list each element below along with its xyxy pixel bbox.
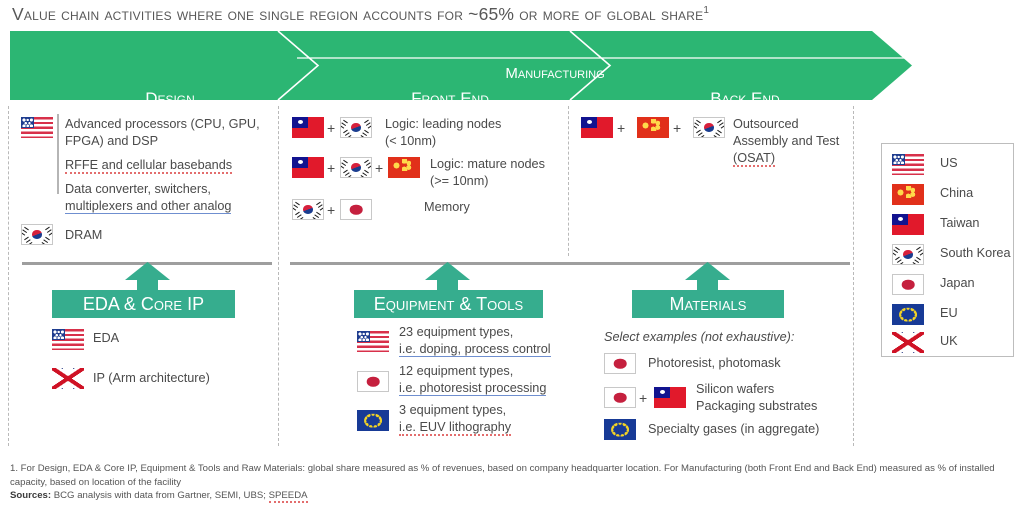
legend-item-eu-label: EU [940,306,958,320]
design-item-dram: DRAM [65,227,102,244]
page-title-superscript: 1 [703,5,709,16]
legend-item-taiwan-label: Taiwan [940,216,980,230]
equipment-item-jp-line1: 12 equipment types, [399,364,513,378]
flag-uk-icon [52,368,84,389]
eda-item-ip: IP (Arm architecture) [93,370,210,387]
rule-manufacturing [290,262,850,265]
flag-eu-icon [604,419,636,440]
backend-item-osat-line2: Assembly and Test [733,134,839,148]
frontend-item-mature-nodes-line1: Logic: mature nodes [430,157,545,171]
section-title-materials: Materials [632,290,784,318]
legend-item-uk: UK [892,332,1012,354]
design-item-dataconverter-line2: multiplexers and other analog [65,199,231,214]
legend-item-japan: Japan [892,274,1012,296]
eda-item-eda: EDA [93,330,119,347]
flag-kr-icon [693,117,725,138]
plus-sign: + [327,202,335,218]
design-item-dataconverter: Data converter, switchers, multiplexers … [65,181,280,215]
footnote-sources-label: Sources: [10,490,51,501]
equipment-item-jp-line2: i.e. photoresist processing [399,381,546,396]
page-title: Value chain activities where one single … [12,4,709,25]
divider-left-edge [8,106,9,446]
materials-item-photoresist: Photoresist, photomask [648,355,781,372]
legend-item-south-korea-label: South Korea [940,246,1011,260]
flag-eu-icon [357,410,389,431]
flag-tw-icon [581,117,613,138]
backend-item-osat-line1: Outsourced [733,117,799,131]
flag-uk-icon [892,332,924,353]
footnote-sources-text: BCG analysis with data from Gartner, SEM… [54,490,266,501]
plus-sign: + [673,120,681,136]
plus-sign: + [639,390,647,406]
frontend-item-memory: Memory [424,199,470,216]
design-item-processors: Advanced processors (CPU, GPU, FPGA) and… [65,116,280,150]
flag-cn-icon [892,184,924,205]
flag-kr-icon [340,117,372,138]
materials-item-wafers-line2: Packaging substrates [696,399,817,413]
value-chain-banner: Manufacturing Design Front End Wafer fab… [10,31,912,100]
flag-eu-icon [892,304,924,325]
footnote: 1. For Design, EDA & Core IP, Equipment … [10,462,1015,503]
flag-kr-icon [340,157,372,178]
equipment-item-eu-line2: i.e. EUV lithography [399,420,511,436]
flag-tw-icon [292,117,324,138]
equipment-item-eu: 3 equipment types, i.e. EUV lithography [399,402,579,436]
legend-item-uk-label: UK [940,334,958,348]
legend-item-eu: EU [892,304,1012,326]
equipment-item-us: 23 equipment types, i.e. doping, process… [399,324,579,358]
materials-item-wafers-line1: Silicon wafers [696,382,774,396]
flag-jp-icon [340,199,372,220]
section-title-equipment: Equipment & Tools [354,290,543,318]
section-title-eda: EDA & Core IP [52,290,235,318]
design-item-rffe: RFFE and cellular basebands [65,157,280,174]
page-title-text: Value chain activities where one single … [12,4,703,24]
footnote-sources-speeda: SPEEDA [269,490,308,503]
banner-stage-design-label: Design [145,89,195,108]
flag-jp-icon [604,387,636,408]
plus-sign: + [327,160,335,176]
design-item-processors-line2: FPGA) and DSP [65,134,158,148]
flag-jp-icon [357,371,389,392]
flag-kr-icon [292,199,324,220]
design-group-bracket [57,114,59,194]
flag-jp-icon [892,274,924,295]
plus-sign: + [327,120,335,136]
flag-cn-icon [637,117,669,138]
equipment-item-jp: 12 equipment types, i.e. photoresist pro… [399,363,579,397]
frontend-item-mature-nodes: Logic: mature nodes (>= 10nm) [430,156,610,190]
flag-tw-icon [292,157,324,178]
materials-note: Select examples (not exhaustive): [604,329,794,346]
plus-sign: + [375,160,383,176]
frontend-item-leading-nodes-line1: Logic: leading nodes [385,117,501,131]
banner-stage-design: Design [70,89,270,108]
design-item-processors-line1: Advanced processors (CPU, GPU, [65,117,260,131]
legend-item-taiwan: Taiwan [892,214,1012,236]
legend-item-china-label: China [940,186,973,200]
materials-item-gases: Specialty gases (in aggregate) [648,421,819,438]
flag-kr-icon [21,224,53,245]
frontend-item-mature-nodes-line2: (>= 10nm) [430,174,489,188]
flag-tw-icon [892,214,924,235]
flag-cn-icon [388,157,420,178]
equipment-item-eu-line1: 3 equipment types, [399,403,506,417]
materials-item-wafers: Silicon wafers Packaging substrates [696,381,866,415]
backend-item-osat: Outsourced Assembly and Test (OSAT) [733,116,863,166]
slide-root: Value chain activities where one single … [0,0,1024,505]
legend-item-south-korea: South Korea [892,244,1012,266]
flag-us-icon [52,329,84,350]
flag-tw-icon [654,387,686,408]
design-item-dataconverter-line1: Data converter, switchers, [65,182,211,196]
frontend-item-leading-nodes: Logic: leading nodes (< 10nm) [385,116,565,150]
banner-stage-back-end-label: Back End [710,89,779,108]
banner-manufacturing-label: Manufacturing [440,66,670,83]
equipment-item-us-line1: 23 equipment types, [399,325,513,339]
banner-stage-front-end-label: Front End [411,89,489,108]
plus-sign: + [617,120,625,136]
flag-us-icon [21,117,53,138]
flag-us-icon [357,331,389,352]
backend-item-osat-line3: (OSAT) [733,151,775,167]
flag-us-icon [892,154,924,175]
legend-item-us: US [892,154,1012,176]
legend-item-china: China [892,184,1012,206]
flag-kr-icon [892,244,924,265]
legend-item-japan-label: Japan [940,276,975,290]
legend-item-us-label: US [940,156,958,170]
footnote-line1: 1. For Design, EDA & Core IP, Equipment … [10,463,811,474]
legend-box: US China Taiwan South Korea Japan EU [881,143,1014,357]
flag-jp-icon [604,353,636,374]
design-item-rffe-text: RFFE and cellular basebands [65,158,232,174]
frontend-item-leading-nodes-line2: (< 10nm) [385,134,436,148]
equipment-item-us-line2: i.e. doping, process control [399,342,551,357]
